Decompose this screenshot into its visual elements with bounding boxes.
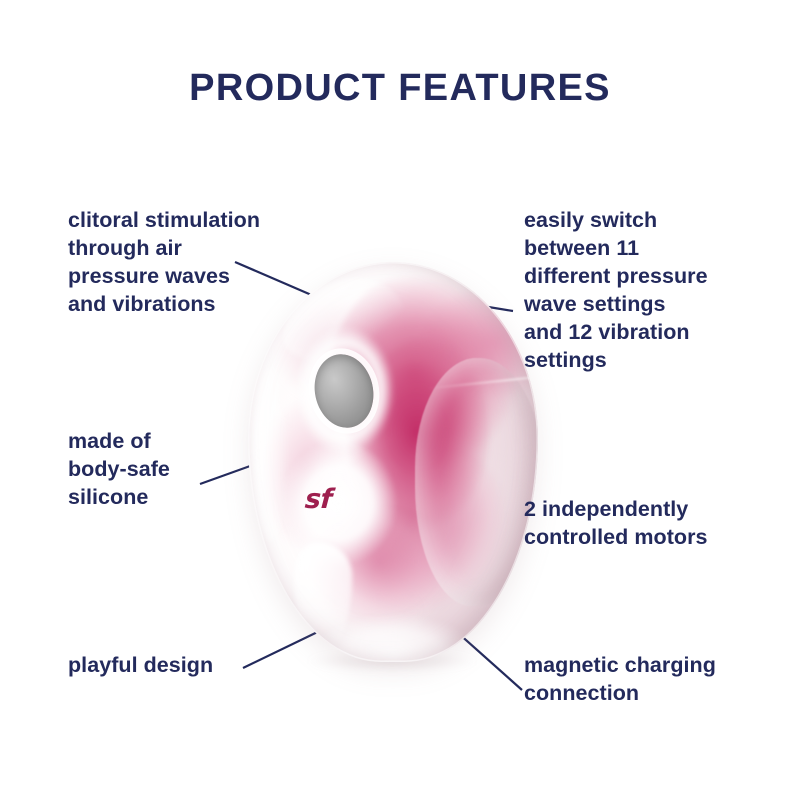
callout-playful-design: playful design — [68, 652, 298, 680]
callout-clitoral-stimulation: clitoral stimulation through air pressur… — [68, 207, 318, 319]
infographic-canvas: PRODUCT FEATURES sf — [0, 0, 800, 800]
page-title: PRODUCT FEATURES — [0, 68, 800, 110]
product-image: sf — [248, 262, 538, 662]
callout-body-safe-silicone: made of body-safe silicone — [68, 428, 268, 512]
callout-independent-motors: 2 independently controlled motors — [524, 496, 764, 552]
product-body: sf — [248, 262, 538, 662]
callout-magnetic-charging: magnetic charging connection — [524, 652, 764, 708]
product-rim — [248, 262, 538, 662]
callout-pressure-wave-settings: easily switch between 11 different press… — [524, 207, 754, 375]
